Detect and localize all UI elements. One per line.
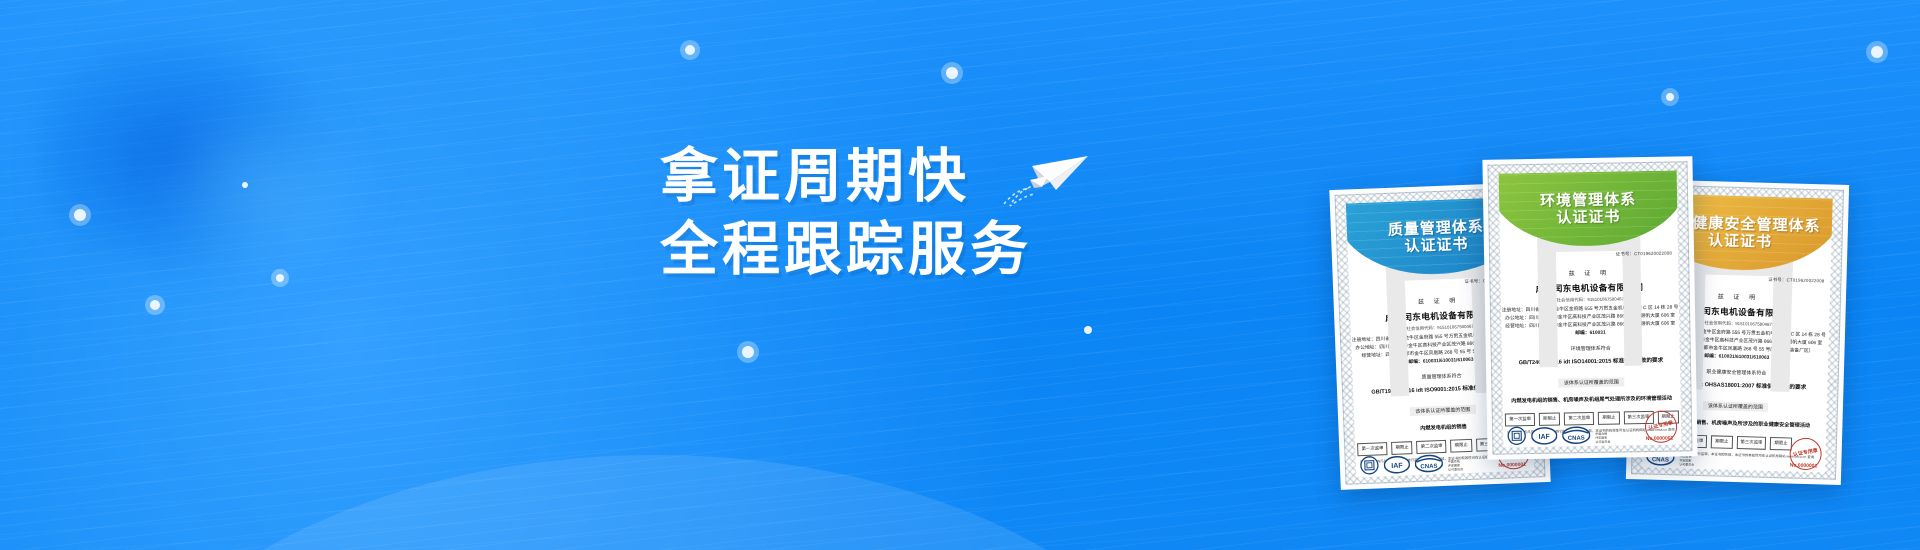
svg-text:CNAS: CNAS [1568,436,1585,442]
scope-label: 该体系认证所覆盖的范围 [1559,377,1624,387]
certificate-watermark [1537,229,1643,368]
certificate-card-environment[interactable]: 环境管理体系 认证证书 证书号：CT019620022008 兹 证 明 成都闰… [1482,156,1697,460]
accreditation-seal-logo [1507,426,1526,445]
decor-dot [1084,326,1092,334]
cnas-logo: CNAS [1415,454,1444,473]
decor-dot [242,182,248,188]
certificate-watermark [1385,256,1493,397]
svg-text:CNAS: CNAS [1652,457,1669,463]
cnas-logo: CNAS [1562,426,1590,444]
svg-text:CNAS: CNAS [1420,464,1437,471]
headline-row-2: 全程跟踪服务 [660,213,1090,286]
iaf-logo: IAF [1531,427,1557,445]
headline-line-1: 拿证周期快 [660,140,970,213]
headline-row-1: 拿证周期快 [660,140,1090,213]
cnas-subtext: 中国合格评定国家认可委员会 [1448,459,1463,472]
paper-plane-icon [998,144,1090,210]
scope-text: 内燃发电机组的销售、机房噪声及机组尾气处理所涉及的环境管理活动 [1503,394,1681,404]
certificate-serial: No.0000001 [1646,436,1674,442]
certificate-watermark [1683,252,1793,392]
accreditation-seal-logo [1360,455,1380,475]
cnas-subtext: 中国合格评定国家认可委员会 [1595,432,1610,444]
hero-banner: 拿证周期快 全程跟踪服务 质量管理体系 [0,0,1920,550]
decor-dot [150,300,160,310]
scope-label: 该体系认证所覆盖的范围 [1703,401,1768,412]
certificate-body: 环境管理体系 认证证书 证书号：CT019620022008 兹 证 明 成都闰… [1499,170,1682,447]
background-glow-blob-light [150,95,380,285]
headline-block: 拿证周期快 全程跟踪服务 [660,140,1090,286]
iaf-logo: IAF [1384,455,1411,474]
decor-dot [1871,46,1883,58]
headline-line-2: 全程跟踪服务 [660,213,1032,286]
certificate-number: 证书号：CT019620022008 [1616,251,1672,258]
header-pattern [1499,170,1682,247]
decor-dot [276,274,284,282]
certificate-serial: No.0000001 [1498,462,1526,469]
certificate-serial: No.0000001 [1790,463,1818,470]
decor-dot [685,45,695,55]
certificate-stack: 质量管理体系 认证证书 证书号：CT019620022008 兹 证 明 成都闰… [1330,78,1920,408]
decor-dot [74,209,86,221]
certificate-header: 环境管理体系 认证证书 [1499,170,1682,247]
svg-text:IAF: IAF [1539,434,1551,441]
svg-text:IAF: IAF [1391,463,1403,470]
decor-dot [742,346,754,358]
decor-dot [946,67,958,79]
scope-label: 该体系认证所覆盖的范围 [1410,404,1475,415]
